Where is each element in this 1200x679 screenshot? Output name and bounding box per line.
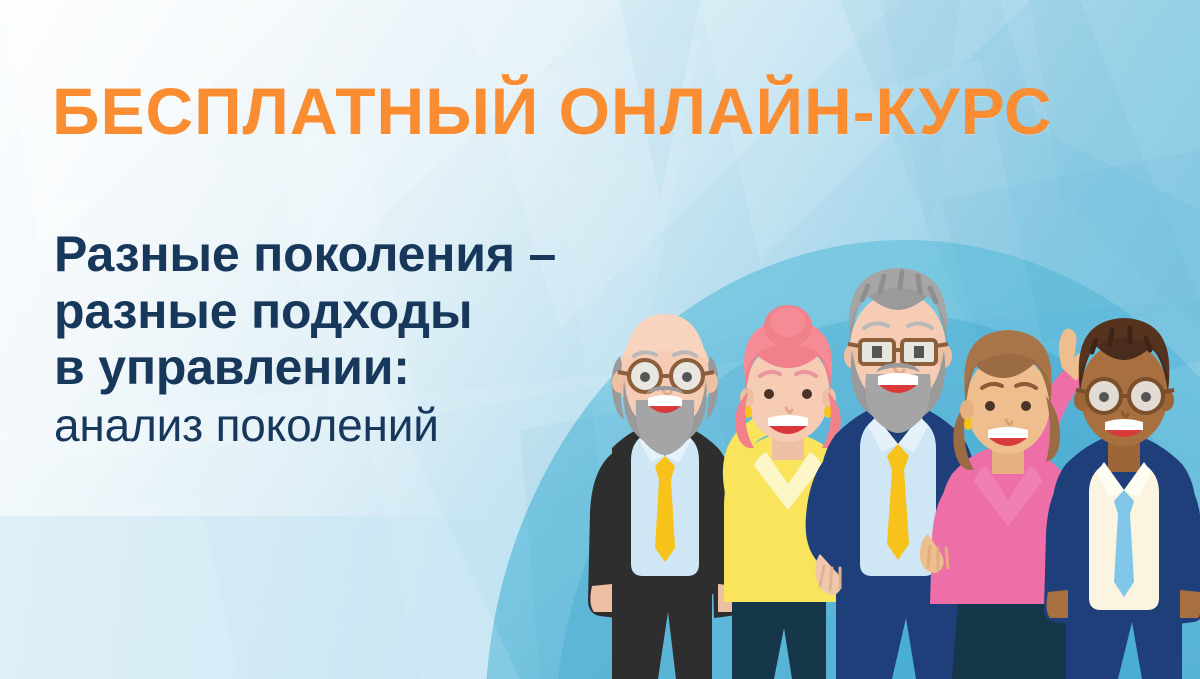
subtitle-block: Разные поколения – разные подходы в упра… xyxy=(54,226,556,451)
person-older-bald-man xyxy=(588,314,742,679)
subtitle-line-4: анализ поколений xyxy=(54,400,556,452)
subtitle-line-2: разные подходы xyxy=(54,283,556,340)
subtitle-line-3: в управлении: xyxy=(54,339,556,396)
subtitle-line-1: Разные поколения – xyxy=(54,226,556,283)
promo-banner: БЕСПЛАТНЫЙ ОНЛАЙН-КУРС Разные поколения … xyxy=(0,0,1200,679)
headline-free-online-course: БЕСПЛАТНЫЙ ОНЛАЙН-КУРС xyxy=(52,78,1053,144)
